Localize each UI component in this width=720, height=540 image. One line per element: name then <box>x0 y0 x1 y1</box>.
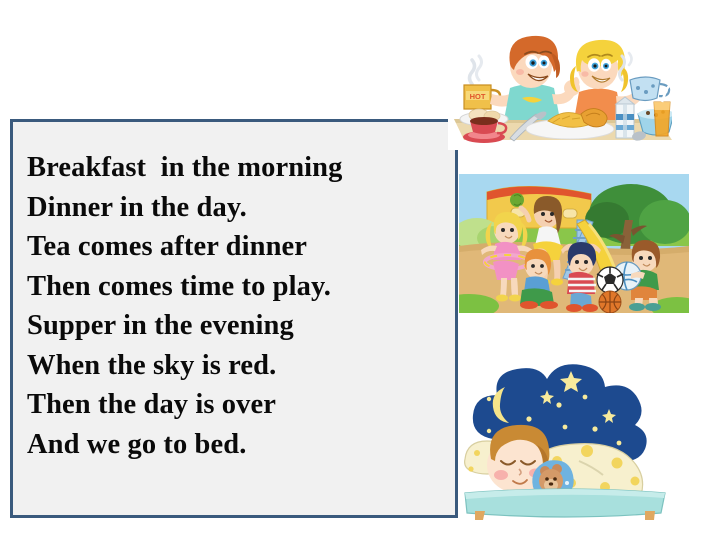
poem-line: And we go to bed. <box>27 425 447 465</box>
breakfast-illustration[interactable]: HOT <box>448 22 672 150</box>
playground-illustration[interactable] <box>459 174 689 313</box>
svg-text:HOT: HOT <box>470 92 486 101</box>
poem-line: Then comes time to play. <box>27 267 447 307</box>
poem-line: When the sky is red. <box>27 346 447 386</box>
poem-text-box[interactable]: Breakfast in the morning Dinner in the d… <box>10 119 458 518</box>
basketball-icon <box>599 291 621 313</box>
poem-line: Supper in the evening <box>27 306 447 346</box>
poem-line: Tea comes after dinner <box>27 227 447 267</box>
bedtime-illustration[interactable] <box>459 343 681 520</box>
poem-line: Breakfast in the morning <box>27 148 447 188</box>
slide-canvas: Breakfast in the morning Dinner in the d… <box>0 0 720 540</box>
milk-carton-icon <box>616 97 634 138</box>
poem-lines: Breakfast in the morning Dinner in the d… <box>27 148 447 464</box>
soccer-ball-icon <box>597 267 623 293</box>
poem-line: Dinner in the day. <box>27 188 447 228</box>
poem-line: Then the day is over <box>27 385 447 425</box>
